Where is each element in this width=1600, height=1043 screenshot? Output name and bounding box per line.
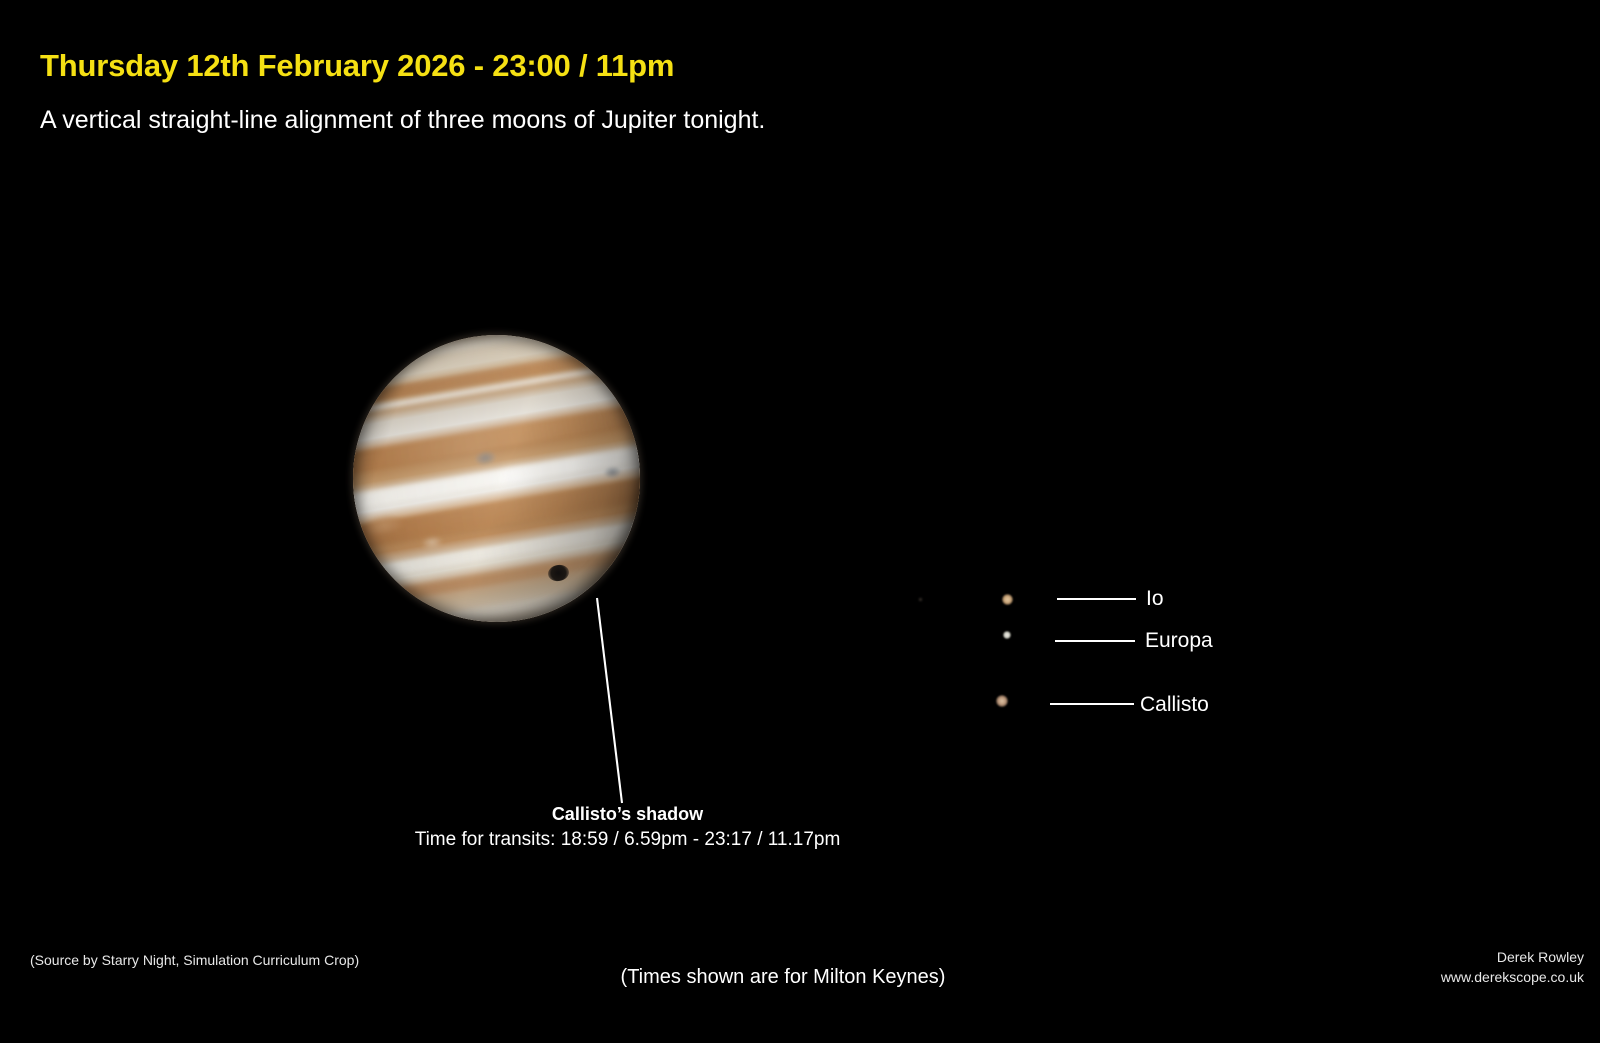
sky-image-canvas: Thursday 12th February 2026 - 23:00 / 11… bbox=[0, 0, 1600, 1043]
moon-dot-io bbox=[1002, 594, 1013, 605]
shadow-label: Callisto’s shadow bbox=[0, 804, 1255, 825]
moon-label-europa: Europa bbox=[1145, 629, 1213, 653]
author-credit: Derek Rowley www.derekscope.co.uk bbox=[1441, 947, 1584, 988]
author-website: www.derekscope.co.uk bbox=[1441, 967, 1584, 987]
moon-label-callisto: Callisto bbox=[1140, 693, 1209, 717]
timezone-note: (Times shown are for Milton Keynes) bbox=[0, 966, 1566, 989]
author-name: Derek Rowley bbox=[1441, 947, 1584, 967]
leader-line-callisto bbox=[1050, 703, 1134, 705]
leader-line-io bbox=[1057, 598, 1136, 600]
callisto-shadow-leader-line bbox=[560, 590, 680, 820]
moon-dot-callisto bbox=[996, 695, 1008, 707]
jupiter-band-group bbox=[353, 335, 640, 622]
page-subtitle: A vertical straight-line alignment of th… bbox=[40, 106, 765, 135]
moon-label-io: Io bbox=[1146, 587, 1164, 611]
page-title: Thursday 12th February 2026 - 23:00 / 11… bbox=[40, 48, 674, 84]
callisto-shadow-caption: Callisto’s shadow Time for transits: 18:… bbox=[0, 804, 1255, 851]
shadow-transit-times: Time for transits: 18:59 / 6.59pm - 23:1… bbox=[0, 829, 1255, 851]
leader-line-europa bbox=[1055, 640, 1135, 642]
jupiter-disk bbox=[353, 335, 640, 622]
jupiter-planet bbox=[353, 335, 640, 622]
faint-star-speck bbox=[919, 598, 922, 601]
moon-dot-europa bbox=[1003, 631, 1011, 639]
